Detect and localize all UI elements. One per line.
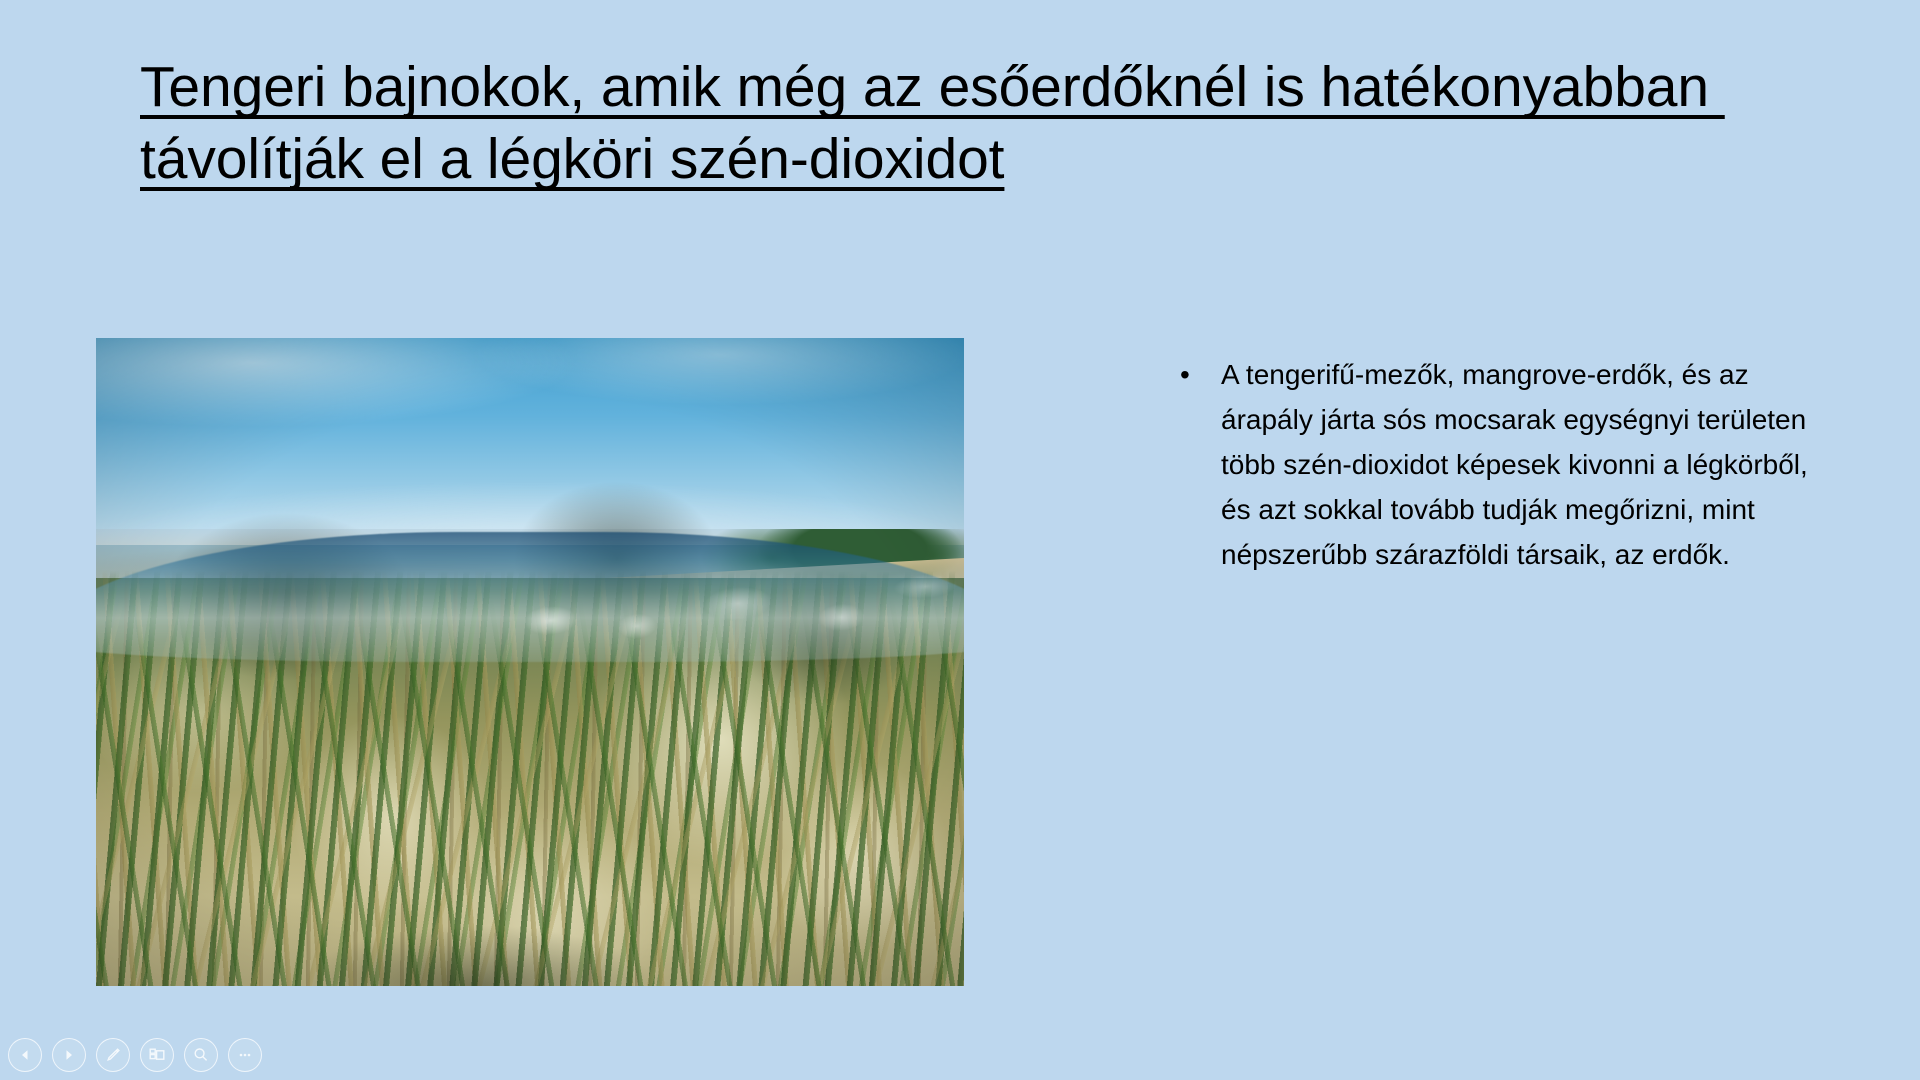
seagrass-photo <box>96 338 964 986</box>
magnifier-icon <box>191 1045 211 1065</box>
previous-slide-button[interactable] <box>8 1038 42 1072</box>
grid-icon <box>147 1045 167 1065</box>
page-title: Tengeri bajnokok, amik még az esőerdőkné… <box>140 52 1780 196</box>
presentation-slide: Tengeri bajnokok, amik még az esőerdőkné… <box>0 0 1920 1080</box>
slide-grid-button[interactable] <box>140 1038 174 1072</box>
photo-canvas <box>96 338 964 986</box>
left-triangle-icon <box>17 1047 33 1063</box>
presenter-toolbar <box>8 1038 262 1072</box>
list-item: • A tengerifű-mezők, mangrove-erdők, és … <box>1175 352 1815 577</box>
bullet-marker-icon: • <box>1175 352 1221 397</box>
right-triangle-icon <box>61 1047 77 1063</box>
next-slide-button[interactable] <box>52 1038 86 1072</box>
body-text-block: • A tengerifű-mezők, mangrove-erdők, és … <box>1175 352 1815 577</box>
bullet-text: A tengerifű-mezők, mangrove-erdők, és az… <box>1221 352 1815 577</box>
ellipsis-icon <box>235 1045 255 1065</box>
pen-icon <box>103 1045 123 1065</box>
more-options-button[interactable] <box>228 1038 262 1072</box>
title-block: Tengeri bajnokok, amik még az esőerdőkné… <box>140 52 1780 196</box>
zoom-button[interactable] <box>184 1038 218 1072</box>
pen-tool-button[interactable] <box>96 1038 130 1072</box>
